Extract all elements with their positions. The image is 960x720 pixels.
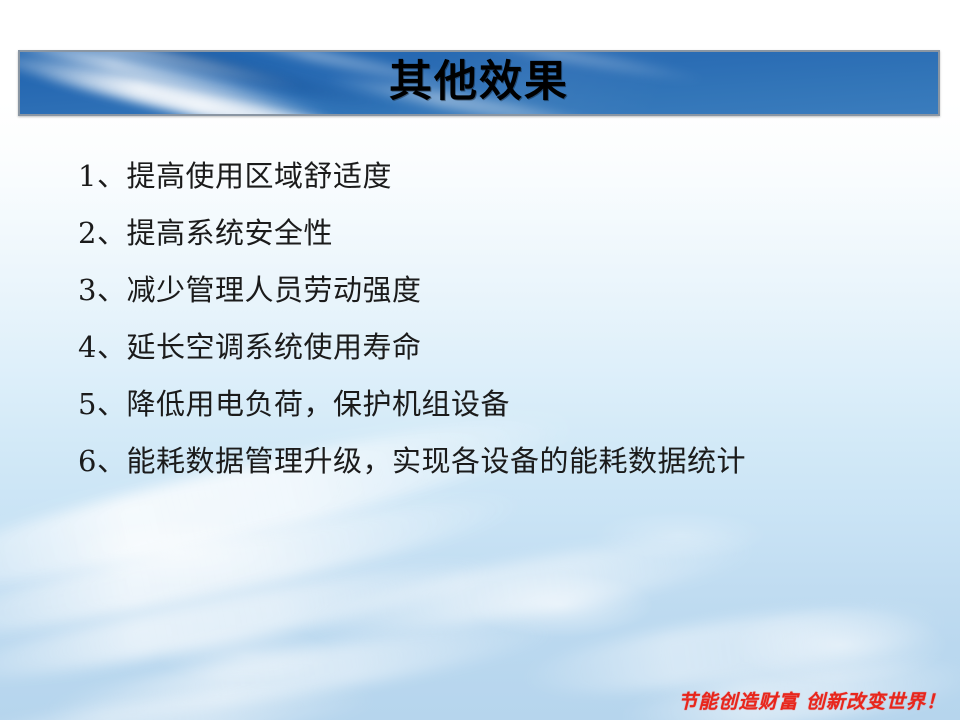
- list-item: 2、提高系统安全性: [78, 205, 908, 262]
- title-banner: 其他效果: [18, 50, 940, 116]
- slide-canvas: 其他效果 1、提高使用区域舒适度 2、提高系统安全性 3、减少管理人员劳动强度 …: [0, 0, 960, 720]
- page-title: 其他效果: [20, 52, 938, 114]
- bullet-list: 1、提高使用区域舒适度 2、提高系统安全性 3、减少管理人员劳动强度 4、延长空…: [78, 148, 908, 490]
- list-item: 1、提高使用区域舒适度: [78, 148, 908, 205]
- footer-slogan: 节能创造财富 创新改变世界！: [678, 687, 946, 714]
- list-item: 3、减少管理人员劳动强度: [78, 262, 908, 319]
- list-item: 4、延长空调系统使用寿命: [78, 319, 908, 376]
- list-item: 5、降低用电负荷，保护机组设备: [78, 376, 908, 433]
- list-item: 6、能耗数据管理升级，实现各设备的能耗数据统计: [78, 433, 908, 490]
